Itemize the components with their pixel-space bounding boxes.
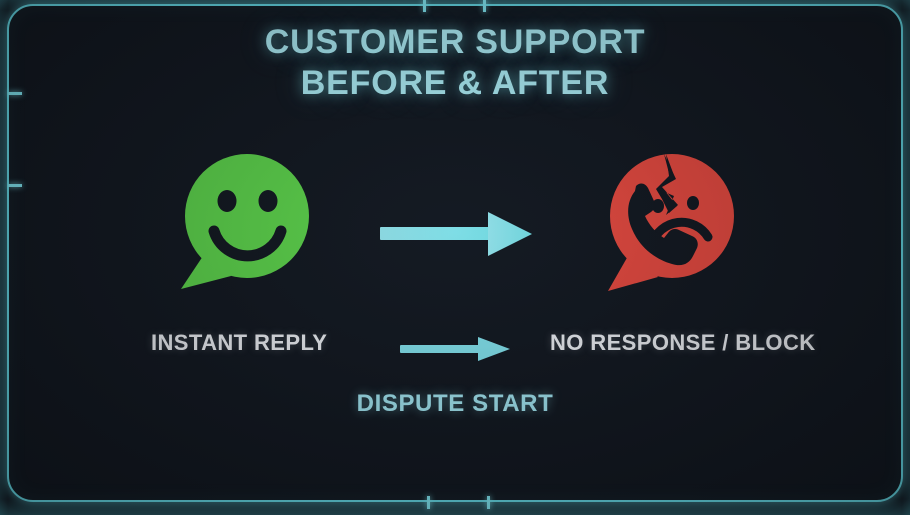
green-smiling-speech-bubble-icon [167,143,327,303]
page-title-line-1: CUSTOMER SUPPORT [0,22,910,63]
page-title: CUSTOMER SUPPORT BEFORE & AFTER [0,22,910,105]
right-arrow-icon-top [380,206,535,262]
slide-content: CUSTOMER SUPPORT BEFORE & AFTER [0,0,910,515]
slide-canvas: CUSTOMER SUPPORT BEFORE & AFTER [0,0,910,515]
right-arrow-icon-bottom [400,333,512,365]
flow-caption: DISPUTE START [0,390,910,418]
before-label: INSTANT REPLY [151,330,327,356]
red-cracked-sad-phone-bubble-icon [592,143,752,303]
after-label: NO RESPONSE / BLOCK [550,330,816,356]
page-title-line-2: BEFORE & AFTER [0,63,910,104]
